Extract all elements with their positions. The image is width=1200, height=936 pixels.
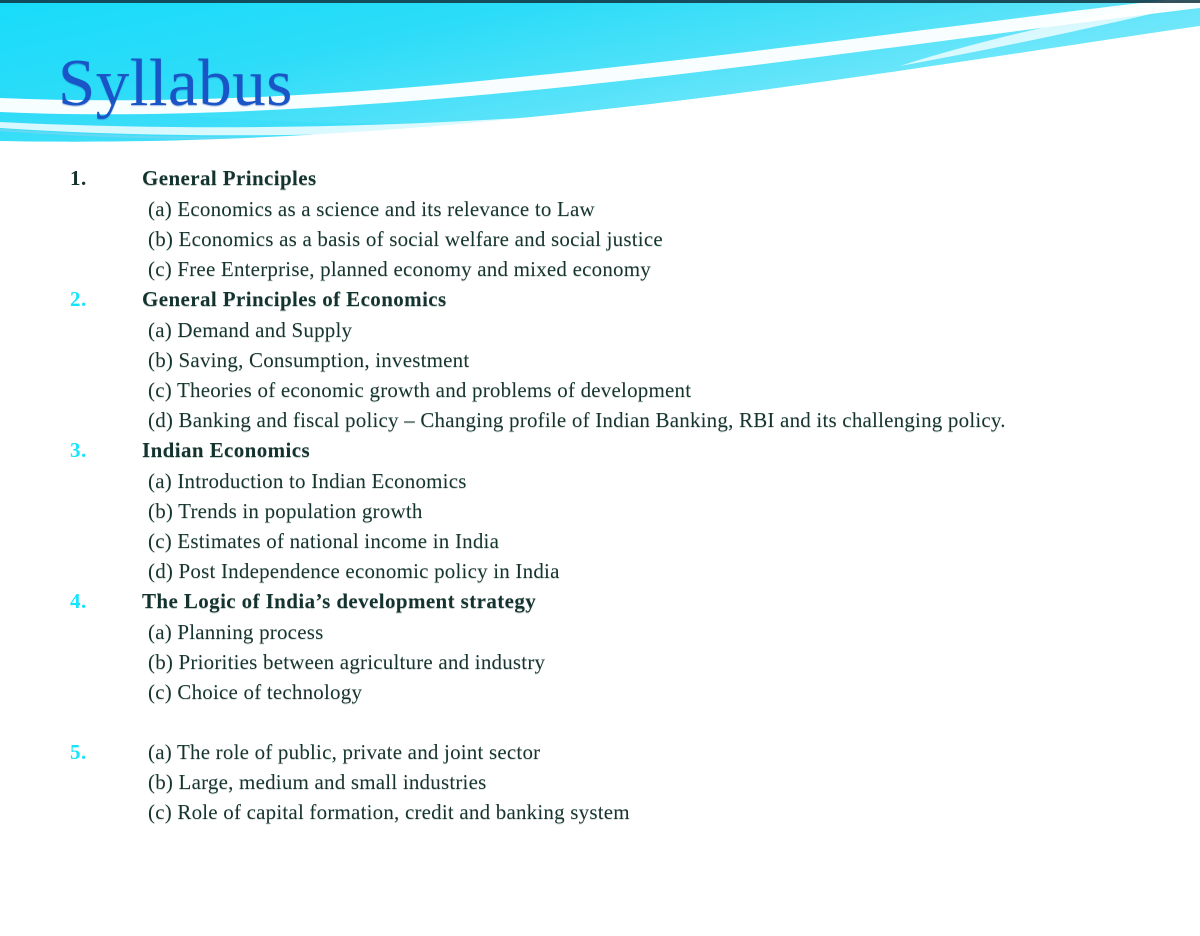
list-item: (c) Theories of economic growth and prob… — [148, 375, 1138, 405]
item-label: (c) — [148, 378, 177, 402]
syllabus-content: 1. General Principles (a) Economics as a… — [0, 163, 1200, 827]
list-item: (a) Planning process — [148, 617, 1138, 647]
item-label: (b) — [148, 770, 179, 794]
section-item-list: (a) The role of public, private and join… — [70, 737, 1200, 827]
section-heading: The Logic of India’s development strateg… — [142, 586, 1200, 617]
list-item: (a) Economics as a science and its relev… — [148, 194, 1138, 224]
item-label: (d) — [148, 559, 179, 583]
item-label: (c) — [148, 529, 177, 553]
item-label: (a) — [148, 197, 177, 221]
section-number: 4. — [70, 586, 118, 617]
section-item-list: (a) Economics as a science and its relev… — [70, 194, 1200, 284]
list-item: (a) Introduction to Indian Economics — [148, 466, 1138, 496]
item-text: Priorities between agriculture and indus… — [179, 650, 546, 674]
list-item: (d) Banking and fiscal policy – Changing… — [148, 405, 1138, 435]
item-text: Economics as a science and its relevance… — [177, 197, 595, 221]
syllabus-section: 2. General Principles of Economics (a) D… — [0, 284, 1200, 435]
item-text: Estimates of national income in India — [177, 529, 499, 553]
list-item: (d) Post Independence economic policy in… — [148, 556, 1138, 586]
section-number: 2. — [70, 284, 118, 315]
item-text: Large, medium and small industries — [179, 770, 487, 794]
top-dark-edge — [0, 0, 1200, 3]
item-label: (b) — [148, 499, 178, 523]
section-heading: General Principles of Economics — [142, 284, 1200, 315]
item-label: (a) — [148, 469, 177, 493]
list-item: (b) Large, medium and small industries — [148, 767, 1138, 797]
item-text: Trends in population growth — [178, 499, 422, 523]
list-item: (c) Choice of technology — [148, 677, 1138, 707]
slide-canvas: Syllabus 1. General Principles (a) Econo… — [0, 0, 1200, 936]
item-label: (d) — [148, 408, 179, 432]
section-number: 1. — [70, 163, 118, 194]
list-item: (b) Priorities between agriculture and i… — [148, 647, 1138, 677]
item-text: Role of capital formation, credit and ba… — [177, 800, 629, 824]
item-label: (a) — [148, 318, 177, 342]
list-item: (b) Saving, Consumption, investment — [148, 345, 1138, 375]
item-text: Introduction to Indian Economics — [177, 469, 466, 493]
syllabus-section: 4. The Logic of India’s development stra… — [0, 586, 1200, 707]
section-number: 3. — [70, 435, 118, 466]
section-number: 5. — [70, 737, 118, 768]
page-title: Syllabus — [58, 50, 293, 117]
item-label: (b) — [148, 650, 179, 674]
item-text: Banking and fiscal policy – Changing pro… — [179, 408, 1006, 432]
list-item: (c) Estimates of national income in Indi… — [148, 526, 1138, 556]
syllabus-section: 3. Indian Economics (a) Introduction to … — [0, 435, 1200, 586]
list-item: (b) Economics as a basis of social welfa… — [148, 224, 1138, 254]
item-label: (a) — [148, 740, 177, 764]
item-label: (c) — [148, 257, 177, 281]
item-label: (c) — [148, 800, 177, 824]
section-heading: Indian Economics — [142, 435, 1200, 466]
item-text: Free Enterprise, planned economy and mix… — [177, 257, 651, 281]
list-item: (a) The role of public, private and join… — [148, 737, 1138, 767]
item-text: Choice of technology — [177, 680, 362, 704]
list-item: (b) Trends in population growth — [148, 496, 1138, 526]
section-item-list: (a) Demand and Supply (b) Saving, Consum… — [70, 315, 1200, 435]
item-label: (b) — [148, 227, 179, 251]
item-text: Saving, Consumption, investment — [179, 348, 470, 372]
section-item-list: (a) Introduction to Indian Economics (b)… — [70, 466, 1200, 586]
item-text: Post Independence economic policy in Ind… — [179, 559, 560, 583]
item-text: The role of public, private and joint se… — [177, 740, 540, 764]
item-text: Theories of economic growth and problems… — [177, 378, 691, 402]
list-item: (c) Role of capital formation, credit an… — [148, 797, 1138, 827]
item-label: (b) — [148, 348, 179, 372]
item-text: Planning process — [177, 620, 323, 644]
item-text: Demand and Supply — [177, 318, 352, 342]
section-heading: General Principles — [142, 163, 1200, 194]
list-item: (c) Free Enterprise, planned economy and… — [148, 254, 1138, 284]
syllabus-section: 5. (a) The role of public, private and j… — [0, 737, 1200, 827]
item-label: (a) — [148, 620, 177, 644]
section-item-list: (a) Planning process (b) Priorities betw… — [70, 617, 1200, 707]
item-label: (c) — [148, 680, 177, 704]
item-text: Economics as a basis of social welfare a… — [179, 227, 663, 251]
syllabus-section: 1. General Principles (a) Economics as a… — [0, 163, 1200, 284]
list-item: (a) Demand and Supply — [148, 315, 1138, 345]
